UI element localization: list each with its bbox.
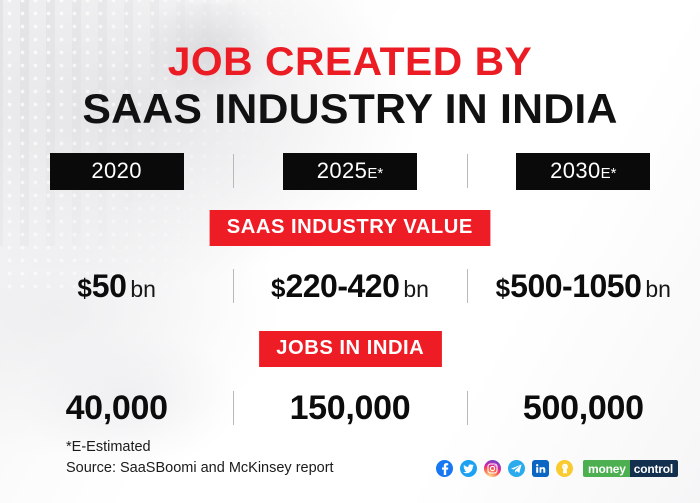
jobs-cell-2020: 40,000 — [0, 383, 233, 433]
instagram-icon[interactable] — [484, 460, 501, 477]
year-suffix: E* — [367, 165, 383, 182]
value-number: 50 — [92, 268, 127, 304]
jobs-value-2030: 500,000 — [523, 391, 644, 425]
value-cell-2025: $220-420bn — [233, 262, 466, 310]
value-number: 500-1050 — [510, 268, 641, 304]
year-chip-2025: 2025E* — [283, 153, 417, 189]
value-unit: bn — [645, 276, 671, 302]
twitter-icon[interactable] — [460, 460, 477, 477]
value-cell-2030: $500-1050bn — [467, 262, 700, 310]
note-estimated: *E-Estimated — [66, 437, 334, 458]
title-line-1: JOB CREATED BY — [0, 42, 700, 82]
infographic: JOB CREATED BY SAAS INDUSTRY IN INDIA 20… — [0, 0, 700, 503]
value-unit: bn — [403, 276, 429, 302]
year-chip-2020: 2020 — [50, 153, 184, 189]
footer-notes: *E-Estimated Source: SaaSBoomi and McKin… — [66, 437, 334, 479]
brand-control: control — [630, 460, 678, 477]
linkedin-icon[interactable] — [532, 460, 549, 477]
jobs-cell-2030: 500,000 — [467, 383, 700, 433]
industry-value-2025: $220-420bn — [271, 270, 429, 302]
year-chip-2030: 2030E* — [516, 153, 650, 189]
industry-value-banner-row: SAAS INDUSTRY VALUE — [0, 210, 700, 246]
koo-icon[interactable] — [556, 460, 573, 477]
industry-value-2020: $50bn — [77, 270, 156, 302]
value-cell-2020: $50bn — [0, 262, 233, 310]
jobs-cell-2025: 150,000 — [233, 383, 466, 433]
banner-jobs-in-india: JOBS IN INDIA — [259, 331, 441, 367]
year-label: 2030 — [550, 158, 601, 183]
industry-value-row: $50bn $220-420bn $500-1050bn — [0, 262, 700, 310]
note-source: Source: SaaSBoomi and McKinsey report — [66, 458, 334, 479]
jobs-banner-row: JOBS IN INDIA — [0, 331, 700, 367]
currency-symbol: $ — [271, 273, 285, 303]
year-label: 2025 — [317, 158, 368, 183]
jobs-value-2020: 40,000 — [66, 391, 168, 425]
jobs-value-2025: 150,000 — [290, 391, 411, 425]
brand-money: money — [583, 460, 630, 477]
currency-symbol: $ — [77, 273, 91, 303]
facebook-icon[interactable] — [436, 460, 453, 477]
footer: *E-Estimated Source: SaaSBoomi and McKin… — [0, 437, 700, 479]
moneycontrol-logo[interactable]: money control — [583, 460, 678, 477]
year-cell-2025: 2025E* — [233, 149, 466, 193]
title-line-2: SAAS INDUSTRY IN INDIA — [0, 86, 700, 131]
industry-value-2030: $500-1050bn — [496, 270, 671, 302]
year-suffix: E* — [601, 165, 617, 182]
jobs-row: 40,000 150,000 500,000 — [0, 383, 700, 433]
value-number: 220-420 — [285, 268, 399, 304]
currency-symbol: $ — [496, 273, 510, 303]
value-unit: bn — [130, 276, 156, 302]
telegram-icon[interactable] — [508, 460, 525, 477]
social-icon-bar: money control — [436, 460, 678, 479]
banner-saas-industry-value: SAAS INDUSTRY VALUE — [210, 210, 490, 246]
year-cell-2020: 2020 — [0, 149, 233, 193]
page-title: JOB CREATED BY SAAS INDUSTRY IN INDIA — [0, 0, 700, 131]
year-label: 2020 — [91, 158, 142, 183]
year-cell-2030: 2030E* — [467, 149, 700, 193]
year-header-row: 2020 2025E* 2030E* — [0, 149, 700, 193]
